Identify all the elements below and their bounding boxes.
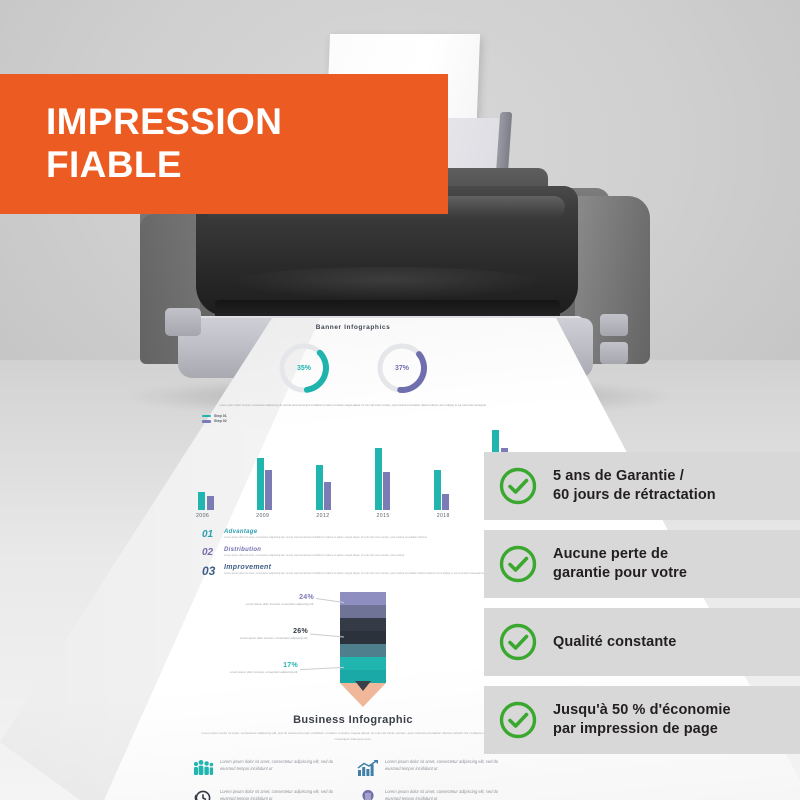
feature-card-1[interactable]: 5 ans de Garantie / 60 jours de rétracta… <box>484 452 800 520</box>
poster-canvas: Banner Infographics 35% 37% <box>0 0 800 800</box>
headline-banner: IMPRESSION FIABLE <box>0 74 448 214</box>
step-heading: Improvement <box>224 564 504 571</box>
legend-entry-step-02: Step 02 <box>202 419 518 423</box>
feature-line-2: 60 jours de rétractation <box>553 486 716 505</box>
bar-group <box>257 458 273 510</box>
feature-line-1: 5 ans de Garantie / <box>553 467 716 486</box>
feature-card-2[interactable]: Aucune perte de garantie pour votre <box>484 530 800 598</box>
legend-label: Step 02 <box>214 419 227 423</box>
donut-chart-2: 37% <box>374 340 430 396</box>
step-text: Lorem ipsum dolor sit amet, consectetur … <box>224 572 504 577</box>
funnel-percent: 24% <box>218 594 314 601</box>
step-number: 03 <box>202 564 218 578</box>
legend-label: Step 01 <box>214 414 227 418</box>
step-heading: Distribution <box>224 547 504 553</box>
bottom-item-text: Lorem ipsum dolor sit amet, consectetur … <box>220 759 349 772</box>
bottom-item-1: Lorem ipsum dolor sit amet, consectetur … <box>192 759 349 777</box>
headline-line-1: IMPRESSION <box>46 101 448 144</box>
step-text: Lorem ipsum dolor sit amet, consectetur … <box>224 554 504 559</box>
step-number: 01 <box>202 529 218 540</box>
donut-2-value: 37% <box>374 340 430 396</box>
bar-group <box>316 465 332 510</box>
clock-phone-icon <box>192 789 214 800</box>
check-circle-icon <box>498 466 538 506</box>
bar-group <box>434 470 450 510</box>
feature-list: 5 ans de Garantie / 60 jours de rétracta… <box>484 452 800 764</box>
feature-line-2: garantie pour votre <box>553 564 687 583</box>
funnel-text: Lorem ipsum dolor sit amet, consectetur … <box>202 670 298 675</box>
step-item-01: 01 Advantage Lorem ipsum dolor sit amet,… <box>202 529 504 541</box>
check-circle-icon <box>498 544 538 584</box>
headline-line-2: FIABLE <box>46 144 448 187</box>
funnel-text: Lorem ipsum dolor sit amet, consectetur … <box>212 636 308 641</box>
feature-text-1: 5 ans de Garantie / 60 jours de rétracta… <box>553 467 716 504</box>
infographic-content: Banner Infographics 35% 37% <box>188 320 518 790</box>
lightbulb-icon <box>357 789 379 800</box>
pencil-funnel-section: 24% Lorem ipsum dolor sit amet, consecte… <box>188 590 518 710</box>
step-text: Lorem ipsum dolor sit amet, consectetur … <box>224 536 504 541</box>
check-circle-icon <box>498 700 538 740</box>
bottom-icon-grid: Lorem ipsum dolor sit amet, consectetur … <box>192 759 514 800</box>
funnel-percent: 26% <box>212 628 308 635</box>
donut-1-value: 35% <box>276 340 332 396</box>
feature-line-1: Qualité constante <box>553 633 676 652</box>
x-tick-label: 2006 <box>196 513 209 519</box>
x-tick-label: 2018 <box>437 513 450 519</box>
legend-entry-step-01: Step 01 <box>202 414 518 418</box>
feature-line-1: Jusqu'à 50 % d'économie <box>553 701 731 720</box>
bar-chart-x-axis-labels: 2006 2009 2012 2015 2018 2023 <box>188 513 518 519</box>
business-infographic-title: Business Infographic <box>188 714 518 726</box>
funnel-label-2: 26% Lorem ipsum dolor sit amet, consecte… <box>212 628 308 641</box>
funnel-label-3: 17% Lorem ipsum dolor sit amet, consecte… <box>202 662 298 675</box>
donut-chart-1: 35% <box>276 340 332 396</box>
feature-card-4[interactable]: Jusqu'à 50 % d'économie par impression d… <box>484 686 800 754</box>
feature-line-2: par impression de page <box>553 720 731 739</box>
chart-legend: Step 01 Step 02 <box>202 414 518 424</box>
numbered-step-list: 01 Advantage Lorem ipsum dolor sit amet,… <box>202 529 504 578</box>
step-item-02: 02 Distribution Lorem ipsum dolor sit am… <box>202 547 504 559</box>
donut-chart-group: 35% 37% <box>188 340 518 396</box>
x-tick-label: 2012 <box>316 513 329 519</box>
people-group-icon <box>192 759 214 777</box>
x-tick-label: 2015 <box>377 513 390 519</box>
bar-group <box>198 492 214 510</box>
legend-swatch-icon <box>202 415 211 418</box>
step-heading: Advantage <box>224 529 504 535</box>
bar-group <box>375 448 391 510</box>
feature-text-2: Aucune perte de garantie pour votre <box>553 545 687 582</box>
funnel-label-1: 24% Lorem ipsum dolor sit amet, consecte… <box>218 594 314 607</box>
pencil-graphic <box>340 592 386 707</box>
pencil-lead <box>355 681 371 691</box>
check-circle-icon <box>498 622 538 662</box>
business-infographic-paragraph: Lorem ipsum dolor sit amet, consectetur … <box>200 731 506 743</box>
funnel-percent: 17% <box>202 662 298 669</box>
funnel-text: Lorem ipsum dolor sit amet, consectetur … <box>218 602 314 607</box>
bottom-item-text: Lorem ipsum dolor sit amet, consectetur … <box>385 789 514 800</box>
x-tick-label: 2009 <box>256 513 269 519</box>
feature-line-1: Aucune perte de <box>553 545 687 564</box>
step-number: 02 <box>202 547 218 558</box>
feature-card-3[interactable]: Qualité constante <box>484 608 800 676</box>
infographic-title: Banner Infographics <box>188 324 518 331</box>
bottom-item-text: Lorem ipsum dolor sit amet, consectetur … <box>220 789 349 800</box>
bottom-item-4: Lorem ipsum dolor sit amet, consectetur … <box>357 789 514 800</box>
bottom-item-3: Lorem ipsum dolor sit amet, consectetur … <box>192 789 349 800</box>
step-item-03: 03 Improvement Lorem ipsum dolor sit ame… <box>202 564 504 578</box>
infographic-intro-paragraph: Lorem ipsum dolor sit amet, consectetur … <box>204 404 502 409</box>
feature-text-3: Qualité constante <box>553 633 676 652</box>
feature-text-4: Jusqu'à 50 % d'économie par impression d… <box>553 701 731 738</box>
legend-swatch-icon <box>202 420 211 423</box>
growth-bar-chart-icon <box>357 759 379 777</box>
bar-chart <box>188 426 518 510</box>
